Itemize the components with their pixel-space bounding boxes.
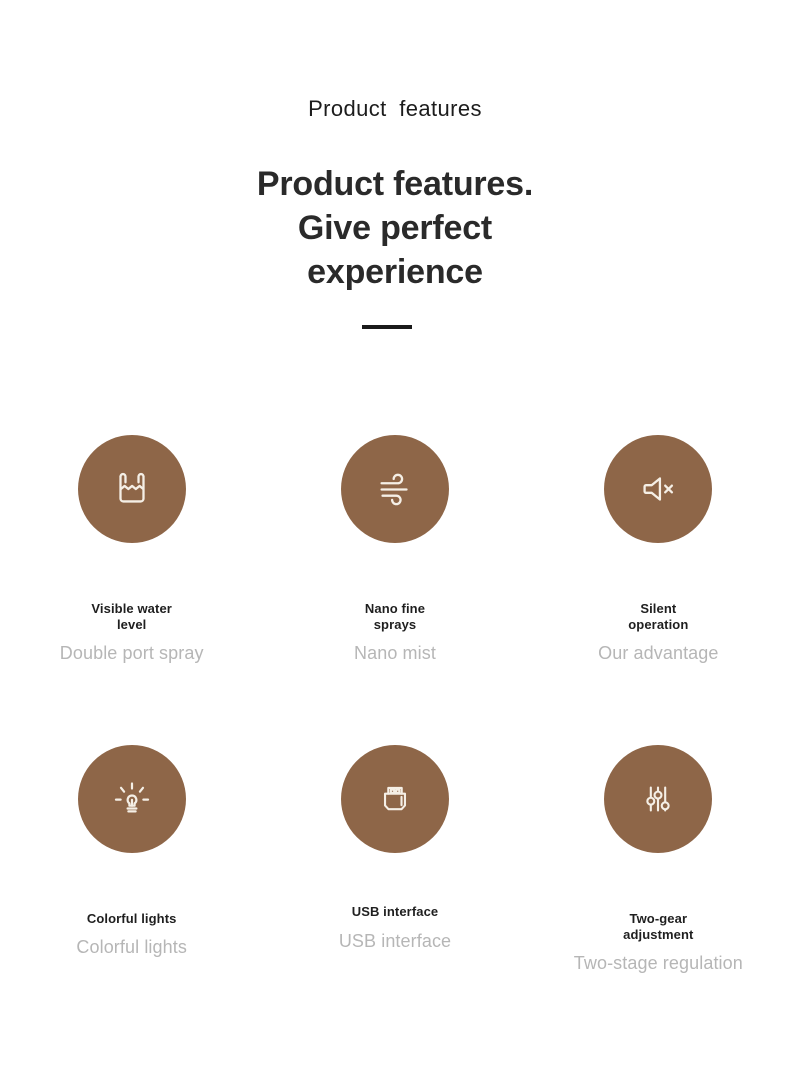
usb-drive-icon (372, 776, 418, 822)
product-features-page: Product features Product features. Give … (0, 0, 790, 1080)
headline-line-1: Product features. (0, 162, 790, 206)
feature-caption: Colorful lights Colorful lights (0, 911, 263, 958)
feature-title: Nano fine sprays (263, 601, 526, 633)
feature-title-line-2: level (0, 617, 263, 633)
feature-subtitle: Double port spray (0, 642, 263, 664)
feature-title-line-1: Silent (527, 601, 790, 617)
feature-title-line-1: Visible water (0, 601, 263, 617)
feature-icon-circle (341, 435, 449, 543)
feature-icon-circle (78, 435, 186, 543)
feature-icon-circle (341, 745, 449, 853)
feature-icon-circle (604, 435, 712, 543)
sliders-icon (635, 776, 681, 822)
water-level-icon (109, 466, 155, 512)
wind-spray-icon (372, 466, 418, 512)
feature-title-line-2: sprays (263, 617, 526, 633)
feature-title: Two-gear adjustment (527, 911, 790, 943)
feature-card-colorful-lights: Colorful lights Colorful lights (0, 745, 263, 974)
feature-title: Visible water level (0, 601, 263, 633)
feature-caption: USB interface USB interface (263, 904, 526, 952)
feature-subtitle: Our advantage (527, 642, 790, 664)
features-row-2: Colorful lights Colorful lights (0, 745, 790, 974)
feature-title-line-1: Two-gear (527, 911, 790, 927)
feature-title-line-2: adjustment (527, 927, 790, 943)
light-bulb-icon (108, 775, 156, 823)
feature-card-nano-spray: Nano fine sprays Nano mist (263, 435, 526, 745)
feature-icon-circle (604, 745, 712, 853)
feature-icon-circle (78, 745, 186, 853)
feature-title-line-1: USB interface (263, 904, 526, 920)
feature-title: USB interface (263, 904, 526, 920)
page-title: Product features. Give perfect experienc… (0, 162, 790, 294)
heading-divider (362, 325, 412, 329)
feature-card-two-gear: Two-gear adjustment Two-stage regulation (527, 745, 790, 974)
feature-subtitle: Nano mist (263, 642, 526, 664)
feature-title-line-2: operation (527, 617, 790, 633)
feature-card-water-level: Visible water level Double port spray (0, 435, 263, 745)
features-grid: Visible water level Double port spray (0, 435, 790, 974)
headline-line-3: experience (0, 250, 790, 294)
headline-line-2: Give perfect (0, 206, 790, 250)
feature-subtitle: Two-stage regulation (527, 952, 790, 974)
feature-title: Silent operation (527, 601, 790, 633)
feature-card-silent: Silent operation Our advantage (527, 435, 790, 745)
feature-subtitle: Colorful lights (0, 936, 263, 958)
feature-title-line-1: Colorful lights (0, 911, 263, 927)
feature-caption: Nano fine sprays Nano mist (263, 601, 526, 664)
feature-caption: Visible water level Double port spray (0, 601, 263, 664)
feature-caption: Two-gear adjustment Two-stage regulation (527, 911, 790, 974)
eyebrow-label: Product features (0, 96, 790, 122)
feature-title-line-1: Nano fine (263, 601, 526, 617)
feature-caption: Silent operation Our advantage (527, 601, 790, 664)
feature-card-usb: USB interface USB interface (263, 745, 526, 974)
feature-title: Colorful lights (0, 911, 263, 927)
feature-subtitle: USB interface (263, 930, 526, 952)
speaker-mute-icon (635, 466, 681, 512)
features-row-1: Visible water level Double port spray (0, 435, 790, 745)
